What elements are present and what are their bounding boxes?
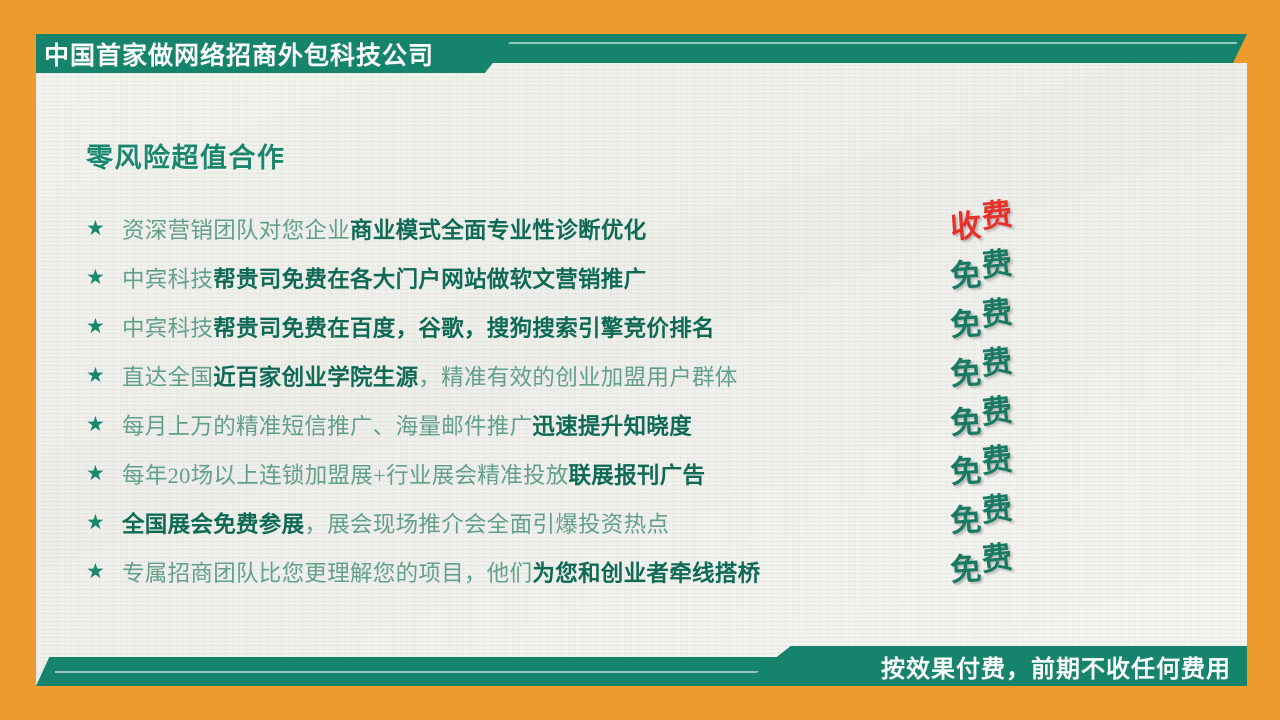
benefit-text-highlight: 商业模式全面专业性诊断优化	[350, 218, 646, 243]
benefit-row: ★ 专属招商团队比您更理解您的项目，他们为您和创业者牵线搭桥	[86, 547, 1086, 596]
benefit-text-highlight: 近百家创业学院生源	[213, 365, 418, 390]
price-char: 费	[979, 434, 1015, 482]
benefit-row: ★ 每年20场以上连锁加盟展+行业展会精准投放联展报刊广告	[86, 449, 1086, 498]
price-char: 费	[979, 483, 1015, 531]
benefit-row: ★ 全国展会免费参展，展会现场推介会全面引爆投资热点	[86, 498, 1086, 547]
benefit-row: ★ 资深营销团队对您企业商业模式全面专业性诊断优化	[86, 204, 1086, 253]
header-title: 中国首家做网络招商外包科技公司	[36, 36, 434, 72]
price-char: 免	[948, 445, 982, 492]
benefit-row: ★ 直达全国近百家创业学院生源，精准有效的创业加盟用户群体	[86, 351, 1086, 400]
star-icon: ★	[86, 512, 122, 533]
benefit-text-plain-after: ，展会现场推介会全面引爆投资热点	[304, 512, 669, 537]
header-title-block: 中国首家做网络招商外包科技公司	[36, 34, 516, 73]
benefit-text: 全国展会免费参展，展会现场推介会全面引爆投资热点	[122, 507, 1086, 539]
section-title: 零风险超值合作	[86, 136, 286, 175]
price-char: 免	[948, 396, 982, 443]
price-column: 收费 免费 免费 免费 免费 免费 免费 免费	[950, 196, 1070, 588]
price-char: 免	[948, 249, 982, 296]
benefit-text-highlight: 迅速提升知晓度	[532, 414, 692, 439]
price-char: 费	[979, 189, 1015, 237]
price-char: 免	[948, 298, 982, 345]
price-badge-free: 免费	[950, 392, 1070, 441]
benefit-text-plain-after: ，精准有效的创业加盟用户群体	[418, 365, 737, 390]
star-icon: ★	[86, 218, 122, 239]
price-char: 免	[948, 347, 982, 394]
benefit-text-highlight: 帮贵司免费在各大门户网站做软文营销推广	[213, 267, 646, 292]
star-icon: ★	[86, 463, 122, 484]
price-char: 费	[979, 287, 1015, 335]
benefit-list: ★ 资深营销团队对您企业商业模式全面专业性诊断优化 ★ 中宾科技帮贵司免费在各大…	[86, 204, 1086, 596]
benefit-text-plain-before: 直达全国	[122, 365, 213, 390]
slide-canvas: 中国首家做网络招商外包科技公司 零风险超值合作 ★ 资深营销团队对您企业商业模式…	[0, 0, 1280, 720]
price-char: 费	[979, 532, 1015, 580]
price-char: 免	[948, 494, 982, 541]
price-char: 收	[948, 200, 982, 247]
star-icon: ★	[86, 365, 122, 386]
price-char: 费	[979, 385, 1015, 433]
benefit-text: 每年20场以上连锁加盟展+行业展会精准投放联展报刊广告	[122, 458, 1086, 490]
star-icon: ★	[86, 316, 122, 337]
benefit-row: ★ 中宾科技帮贵司免费在各大门户网站做软文营销推广	[86, 253, 1086, 302]
benefit-text-highlight: 帮贵司免费在百度，谷歌，搜狗搜索引擎竞价排名	[213, 316, 715, 341]
benefit-text: 直达全国近百家创业学院生源，精准有效的创业加盟用户群体	[122, 360, 1086, 392]
price-badge-free: 免费	[950, 490, 1070, 539]
price-badge-free: 免费	[950, 294, 1070, 343]
benefit-text-plain-before: 资深营销团队对您企业	[122, 218, 350, 243]
header-band-right-notch	[1233, 34, 1247, 63]
benefit-text-highlight: 全国展会免费参展	[122, 512, 304, 537]
benefit-text: 专属招商团队比您更理解您的项目，他们为您和创业者牵线搭桥	[122, 556, 1086, 588]
price-char: 费	[979, 336, 1015, 384]
benefit-text-plain-before: 中宾科技	[122, 316, 213, 341]
benefit-text-highlight: 联展报刊广告	[569, 463, 706, 488]
price-badge-free: 免费	[950, 343, 1070, 392]
benefit-text: 中宾科技帮贵司免费在各大门户网站做软文营销推广	[122, 262, 1086, 294]
footer-title-block: 按效果付费，前期不收任何费用	[740, 646, 1247, 686]
benefit-row: ★ 中宾科技帮贵司免费在百度，谷歌，搜狗搜索引擎竞价排名	[86, 302, 1086, 351]
benefit-text-plain-before: 每年20场以上连锁加盟展+行业展会精准投放	[122, 463, 569, 488]
footer-tagline: 按效果付费，前期不收任何费用	[881, 649, 1247, 684]
price-char: 免	[948, 543, 982, 590]
benefit-text-plain-before: 中宾科技	[122, 267, 213, 292]
price-badge-paid: 收费	[950, 196, 1070, 245]
benefit-text: 资深营销团队对您企业商业模式全面专业性诊断优化	[122, 213, 1086, 245]
benefit-text-plain-before: 专属招商团队比您更理解您的项目，他们	[122, 561, 532, 586]
benefit-row: ★ 每月上万的精准短信推广、海量邮件推广迅速提升知晓度	[86, 400, 1086, 449]
benefit-text: 中宾科技帮贵司免费在百度，谷歌，搜狗搜索引擎竞价排名	[122, 311, 1086, 343]
price-badge-free: 免费	[950, 539, 1070, 588]
star-icon: ★	[86, 267, 122, 288]
benefit-text-plain-before: 每月上万的精准短信推广、海量邮件推广	[122, 414, 532, 439]
price-badge-free: 免费	[950, 245, 1070, 294]
benefit-text: 每月上万的精准短信推广、海量邮件推广迅速提升知晓度	[122, 409, 1086, 441]
benefit-text-highlight: 为您和创业者牵线搭桥	[532, 561, 760, 586]
star-icon: ★	[86, 561, 122, 582]
star-icon: ★	[86, 414, 122, 435]
price-char: 费	[979, 238, 1015, 286]
price-badge-free: 免费	[950, 441, 1070, 490]
